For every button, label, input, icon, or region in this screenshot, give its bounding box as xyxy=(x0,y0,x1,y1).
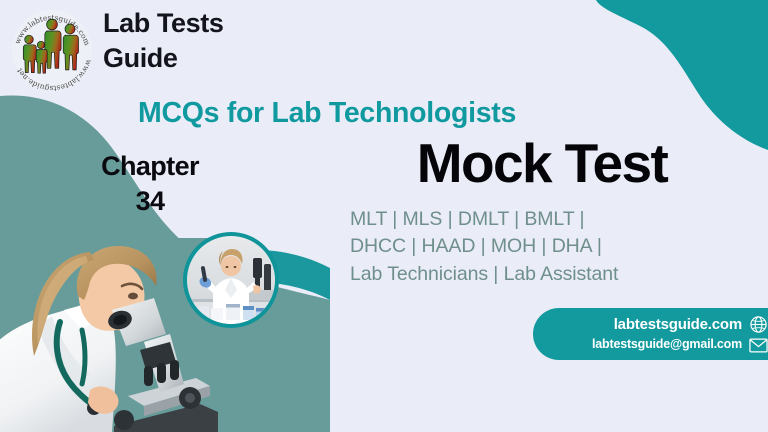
chapter-number: 34 xyxy=(60,182,240,221)
brand-heading: Lab Tests Guide xyxy=(103,6,293,75)
poster-canvas: www.labtestsguide.com www.labtestsguide.… xyxy=(0,0,768,432)
headline: MCQs for Lab Technologists xyxy=(138,97,738,130)
contact-email[interactable]: labtestsguide@gmail.com xyxy=(592,336,742,353)
qualifications-line-2: DHCC | HAAD | MOH | DHA | xyxy=(350,233,712,260)
chapter-block: Chapter 34 xyxy=(60,152,240,221)
chapter-label: Chapter xyxy=(60,152,240,182)
qualifications-line-3: Lab Technicians | Lab Assistant xyxy=(350,261,712,288)
qualifications-line-1: MLT | MLS | DMLT | BMLT | xyxy=(350,206,712,233)
brand-logo: www.labtestsguide.com www.labtestsguide.… xyxy=(8,6,96,94)
envelope-icon xyxy=(749,337,768,354)
page-title: Mock Test xyxy=(352,134,732,193)
brand-line-1: Lab Tests xyxy=(103,6,293,41)
qualifications-list: MLT | MLS | DMLT | BMLT | DHCC | HAAD | … xyxy=(350,206,712,288)
globe-icon xyxy=(749,315,768,334)
contact-website[interactable]: labtestsguide.com xyxy=(614,315,742,335)
contact-text-block: labtestsguide.com labtestsguide@gmail.co… xyxy=(561,315,749,352)
brand-line-2: Guide xyxy=(103,41,293,76)
photo-scientist-inset xyxy=(183,232,279,328)
contact-pill[interactable]: labtestsguide.com labtestsguide@gmail.co… xyxy=(533,308,768,360)
contact-icon-group xyxy=(749,315,768,354)
